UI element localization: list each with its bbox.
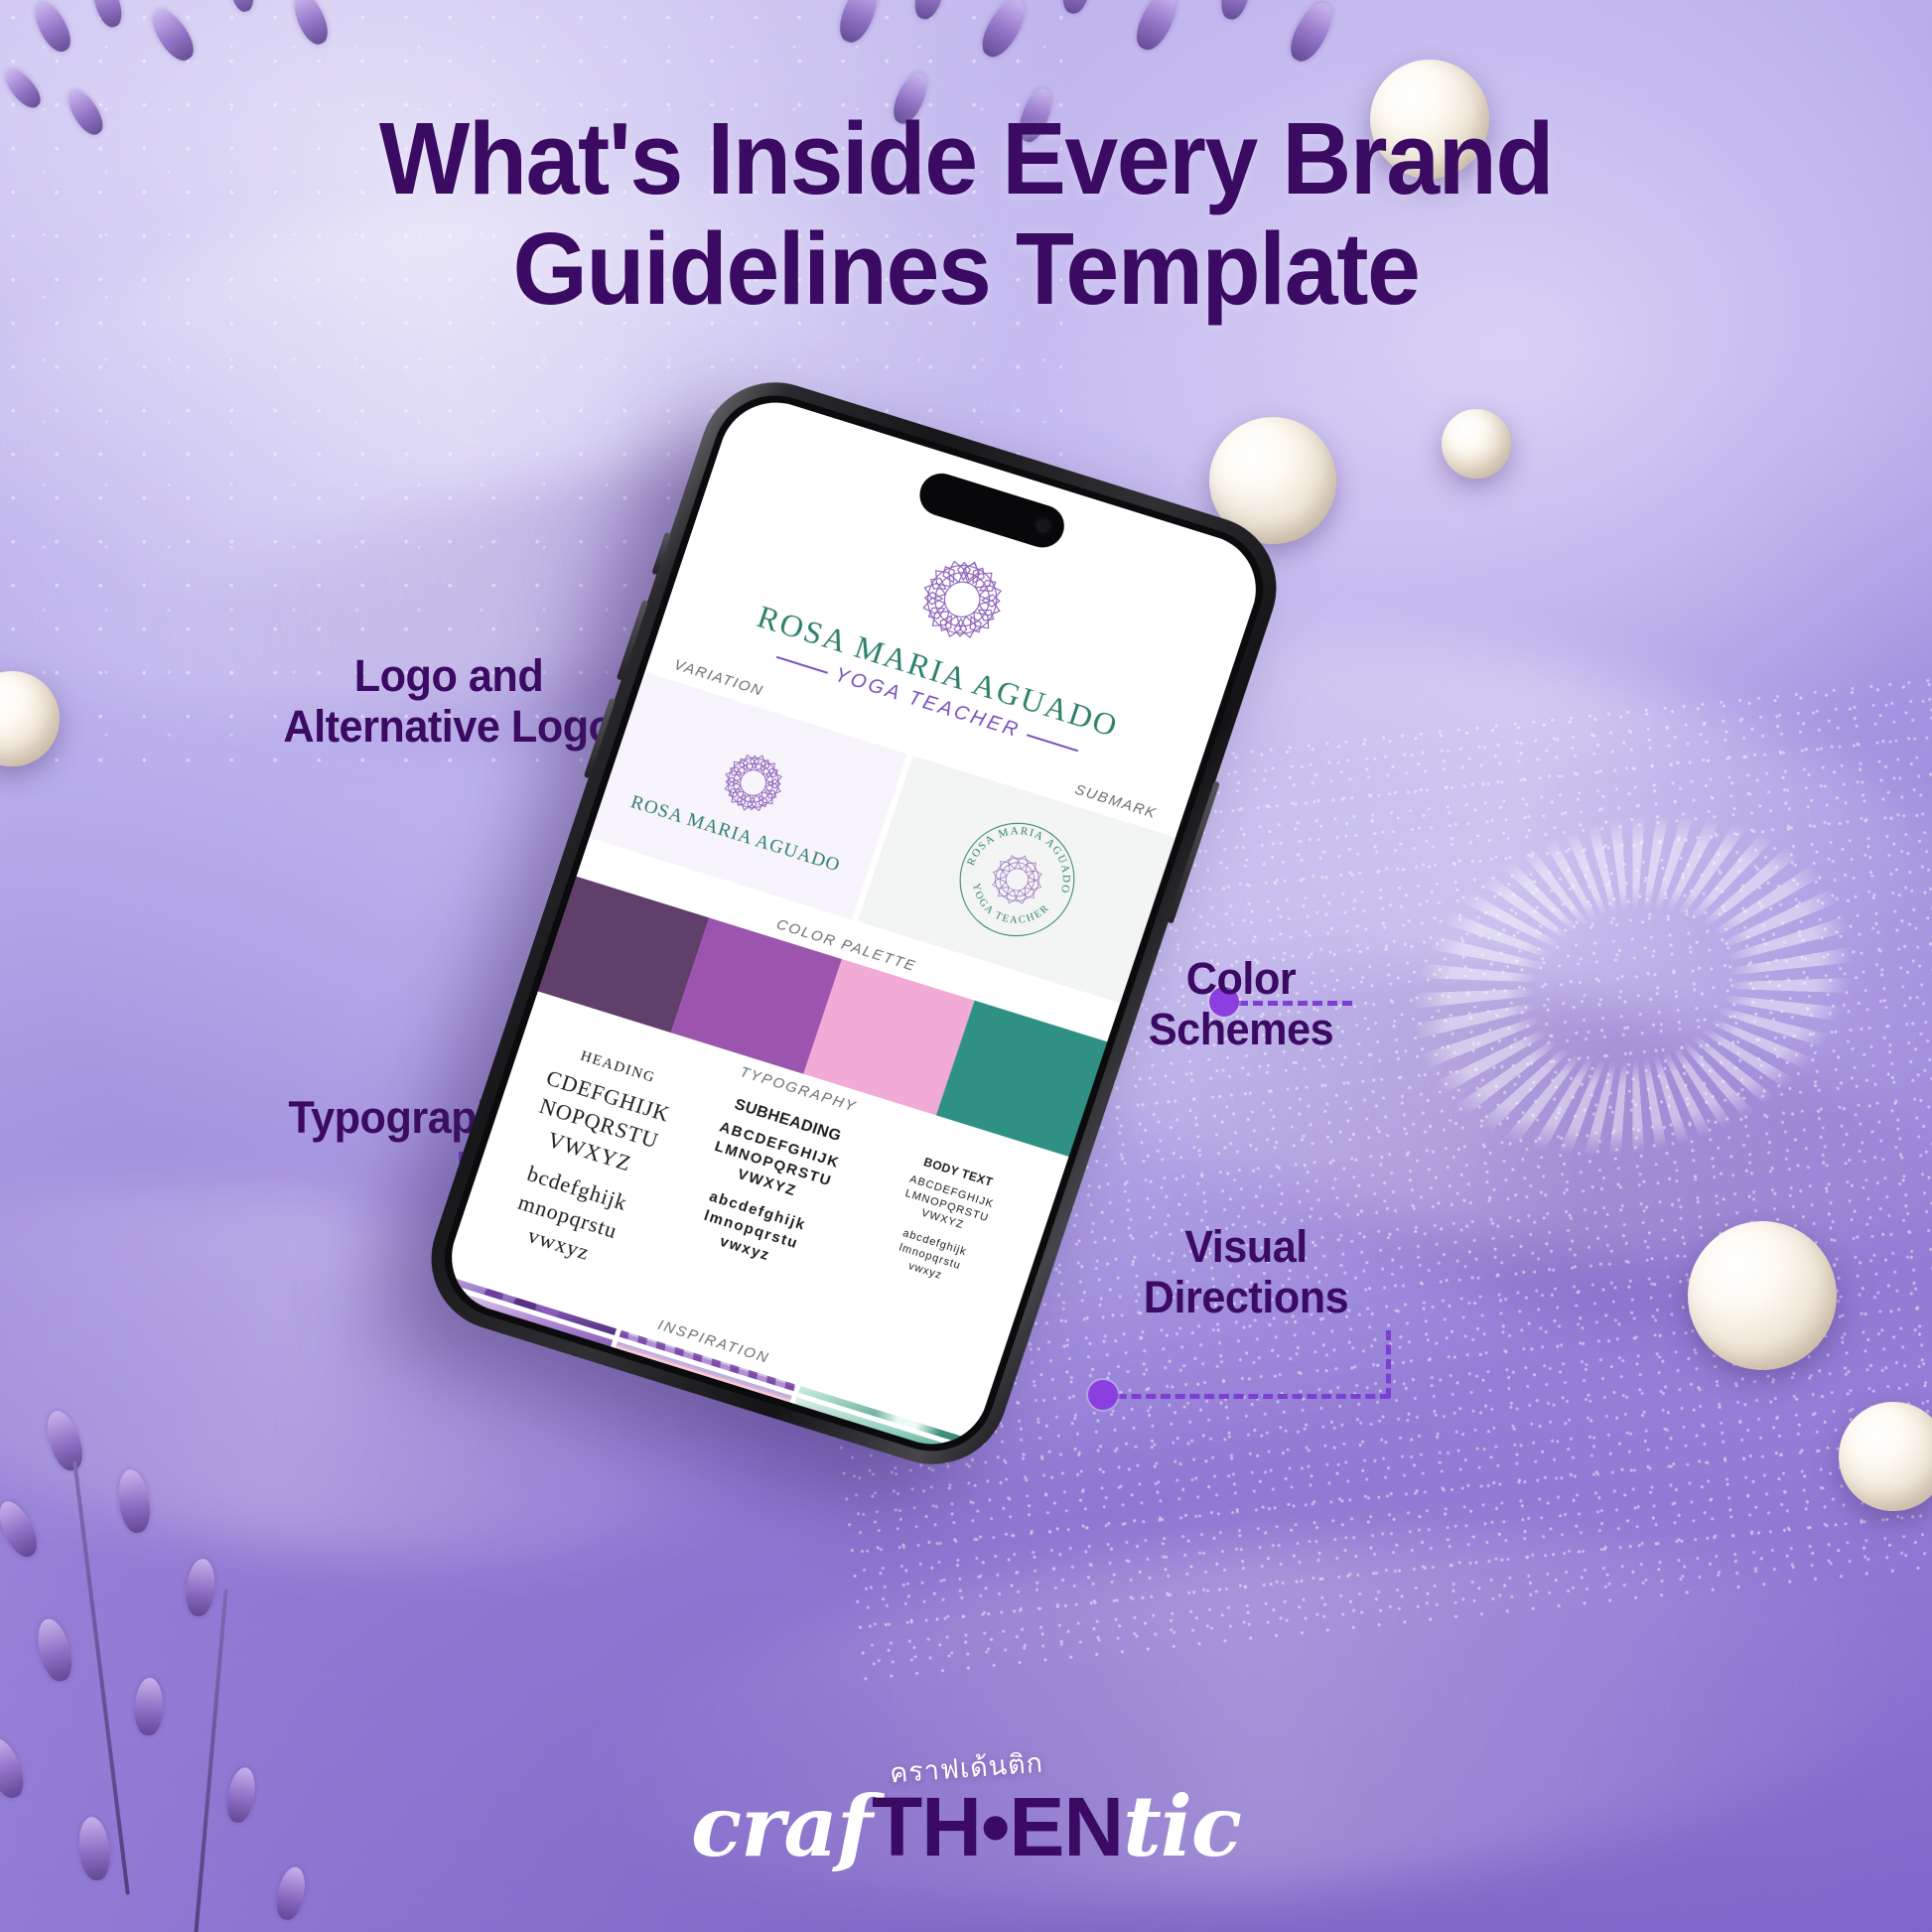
page-title: What's Inside Every Brand Guidelines Tem… [58,103,1873,324]
typography-subheading-column: SUBHEADING ABCDEFGHIJK LMNOPQRSTU VWXYZ … [661,1087,871,1284]
wordmark-part-tic: tic [1123,1777,1241,1875]
page-title-line2: Guidelines Template [58,213,1873,324]
wordmark-part-craf: craf [691,1777,872,1875]
callout-visual-line2: Directions [1144,1272,1348,1322]
watermark-wordmark: crafTH•ENtic [0,1785,1932,1868]
svg-text:YOGA TEACHER: YOGA TEACHER [961,880,1053,937]
callout-color-line2: Schemes [1149,1004,1333,1054]
leader-dot-visual [1088,1380,1118,1410]
callout-logo-line2: Alternative Logo [283,701,614,752]
wordmark-part-en: EN [1009,1780,1123,1873]
leader-line-visual-vertical [1386,1330,1391,1398]
wordmark-part-th: TH [872,1780,981,1873]
callout-logo: Logo and Alternative Logo [239,650,658,753]
rule-left [776,655,828,673]
callout-logo-line1: Logo and [354,650,544,701]
callout-color-line1: Color [1186,953,1296,1004]
brand-watermark: คราฟเด้นติก crafTH•ENtic [0,1746,1932,1868]
leader-line-visual [1102,1394,1390,1399]
typography-heading-sample: CDEFGHIJK NOPQRSTU VWXYZ bcdefghijk mnop… [474,1057,693,1284]
typography-heading-column: HEADING CDEFGHIJK NOPQRSTU VWXYZ bcdefgh… [474,1035,701,1283]
submark-ring-icon: ROSA MARIA AGUADO YOGA TEACHER [933,798,1100,961]
phone-mute-switch[interactable] [651,532,671,576]
wordmark-dot: • [981,1780,1009,1873]
rule-right [1027,734,1078,752]
callout-visual: Visual Directions [1089,1221,1404,1323]
page-title-line1: What's Inside Every Brand [379,101,1553,215]
submark-badge: ROSA MARIA AGUADO YOGA TEACHER [933,798,1100,961]
callout-visual-line1: Visual [1184,1221,1308,1272]
mandala-logo-icon [705,736,801,830]
